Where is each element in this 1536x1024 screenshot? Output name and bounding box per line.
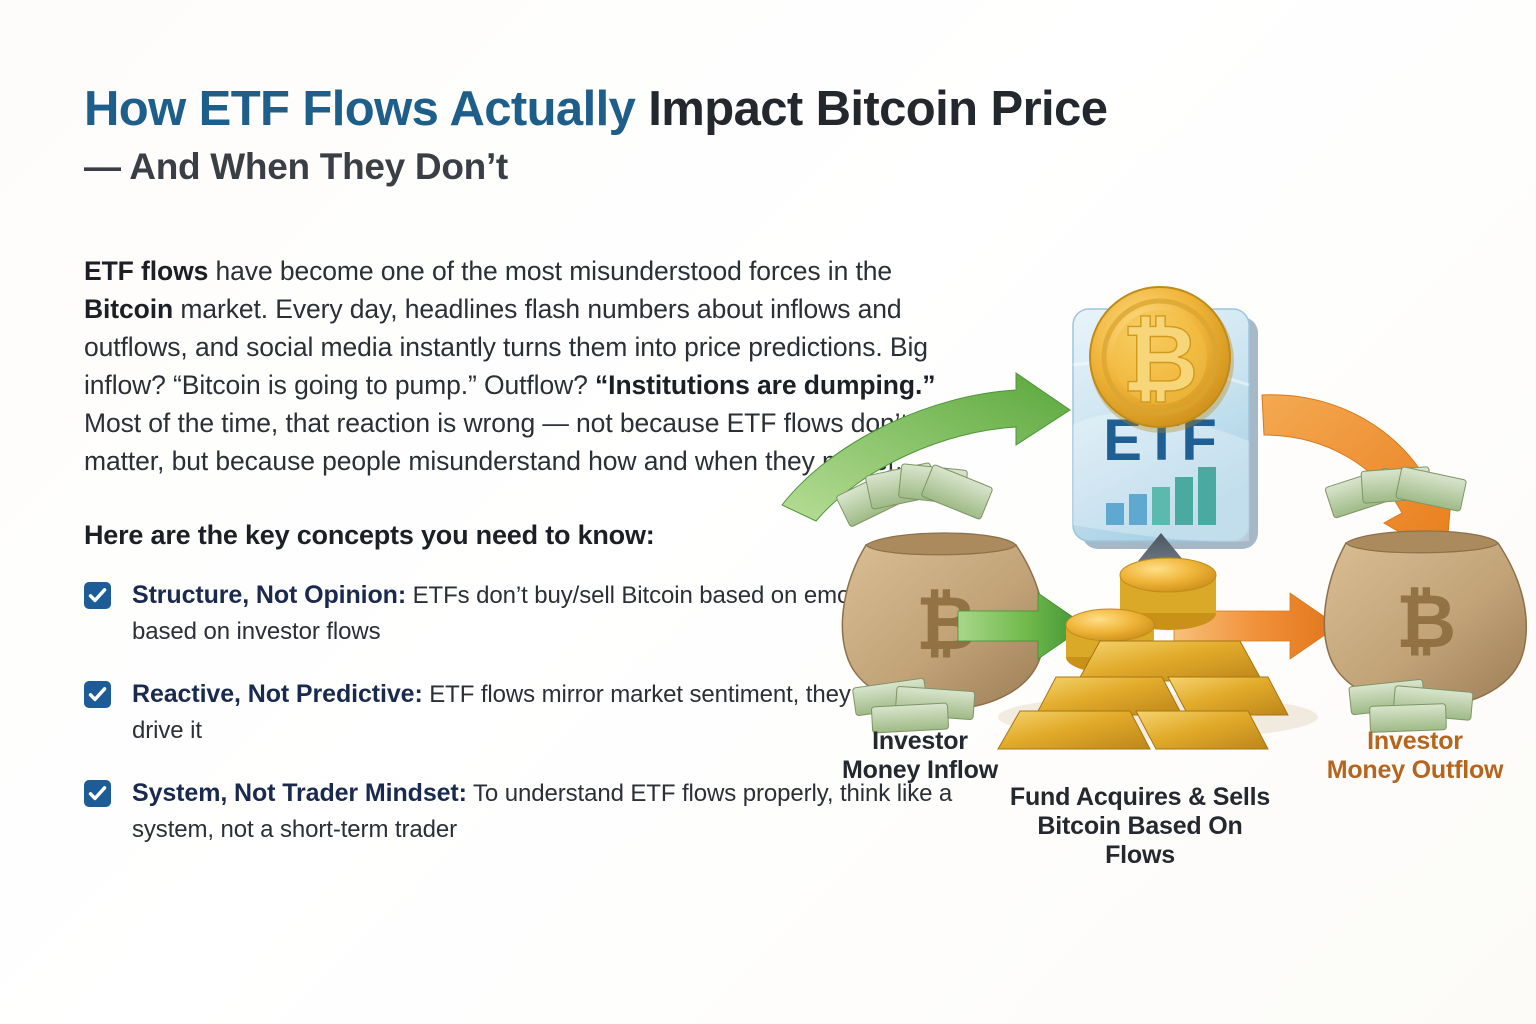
page-subtitle: — And When They Don’t xyxy=(84,147,1374,188)
checkbox-checked-icon xyxy=(84,780,111,807)
inflow-label-line1: Investor xyxy=(790,727,1050,756)
outflow-label-line2: Money Outflow xyxy=(1290,756,1536,785)
outflow-label: Investor Money Outflow xyxy=(1290,727,1536,785)
bitcoin-symbol: ₿ xyxy=(1122,306,1199,411)
list-item-strong: Structure, Not Opinion: xyxy=(132,581,406,609)
intro-lead: ETF flows xyxy=(84,256,208,286)
list-item-strong: System, Not Trader Mindset: xyxy=(132,779,467,807)
money-bag-inflow: ₿ xyxy=(836,463,1045,733)
page-title-rest: Impact Bitcoin Price xyxy=(648,82,1107,136)
fund-label-line1: Fund Acquires & Sells xyxy=(970,783,1310,812)
fund-label-line3: Flows xyxy=(970,841,1310,870)
page-title-highlight: How ETF Flows Actually xyxy=(84,82,635,136)
intro-bold2: Bitcoin xyxy=(84,294,173,324)
outflow-label-line1: Investor xyxy=(1290,727,1536,756)
checkbox-checked-icon xyxy=(84,582,111,609)
list-item-strong: Reactive, Not Predictive: xyxy=(132,680,423,708)
fund-label-line2: Bitcoin Based On xyxy=(970,812,1310,841)
inflow-label: Investor Money Inflow xyxy=(790,727,1050,785)
etf-flow-illustration: ETF ₿ xyxy=(770,245,1536,905)
title-block: How ETF Flows Actually Impact Bitcoin Pr… xyxy=(84,84,1374,188)
inflow-label-line2: Money Inflow xyxy=(790,756,1050,785)
fund-label: Fund Acquires & Sells Bitcoin Based On F… xyxy=(970,783,1310,870)
bag-bitcoin-symbol: ₿ xyxy=(1396,580,1456,663)
page-title: How ETF Flows Actually Impact Bitcoin Pr… xyxy=(84,84,1374,135)
infographic-page: How ETF Flows Actually Impact Bitcoin Pr… xyxy=(0,0,1536,1024)
checkbox-checked-icon xyxy=(84,681,111,708)
